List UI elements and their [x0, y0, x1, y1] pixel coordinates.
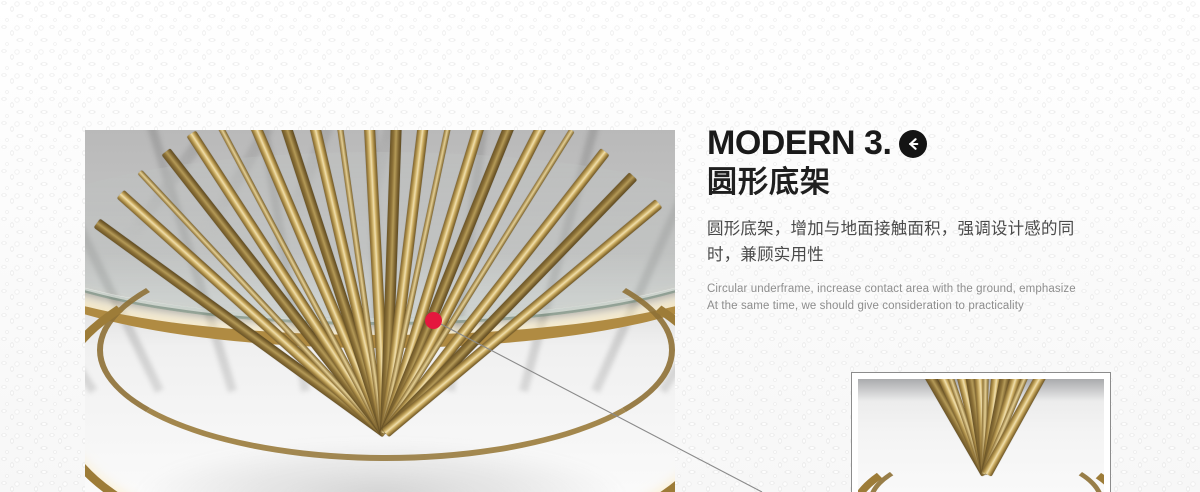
underframe-detail-panel — [851, 372, 1111, 492]
description-english: Circular underframe, increase contact ar… — [707, 281, 1107, 314]
arrow-left-circle-icon — [899, 130, 927, 158]
page-title: MODERN 3. — [707, 126, 891, 160]
description-block: MODERN 3. 圆形底架 圆形底架，增加与地面接触面积，强调设计感的同时，兼… — [707, 126, 1107, 314]
underframe-detail-image — [858, 379, 1104, 492]
title-row: MODERN 3. — [707, 126, 1107, 160]
description-chinese: 圆形底架，增加与地面接触面积，强调设计感的同时，兼顾实用性 — [707, 216, 1103, 269]
description-english-line-1: Circular underframe, increase contact ar… — [707, 281, 1107, 298]
photo-scene — [85, 130, 675, 492]
page-subtitle: 圆形底架 — [707, 166, 1107, 201]
circular-underframe-marker[interactable] — [425, 312, 442, 329]
description-english-line-2: At the same time, we should give conside… — [707, 298, 1107, 315]
product-detail-banner: MODERN 3. 圆形底架 圆形底架，增加与地面接触面积，强调设计感的同时，兼… — [0, 0, 1200, 492]
hero-product-image — [85, 130, 675, 492]
